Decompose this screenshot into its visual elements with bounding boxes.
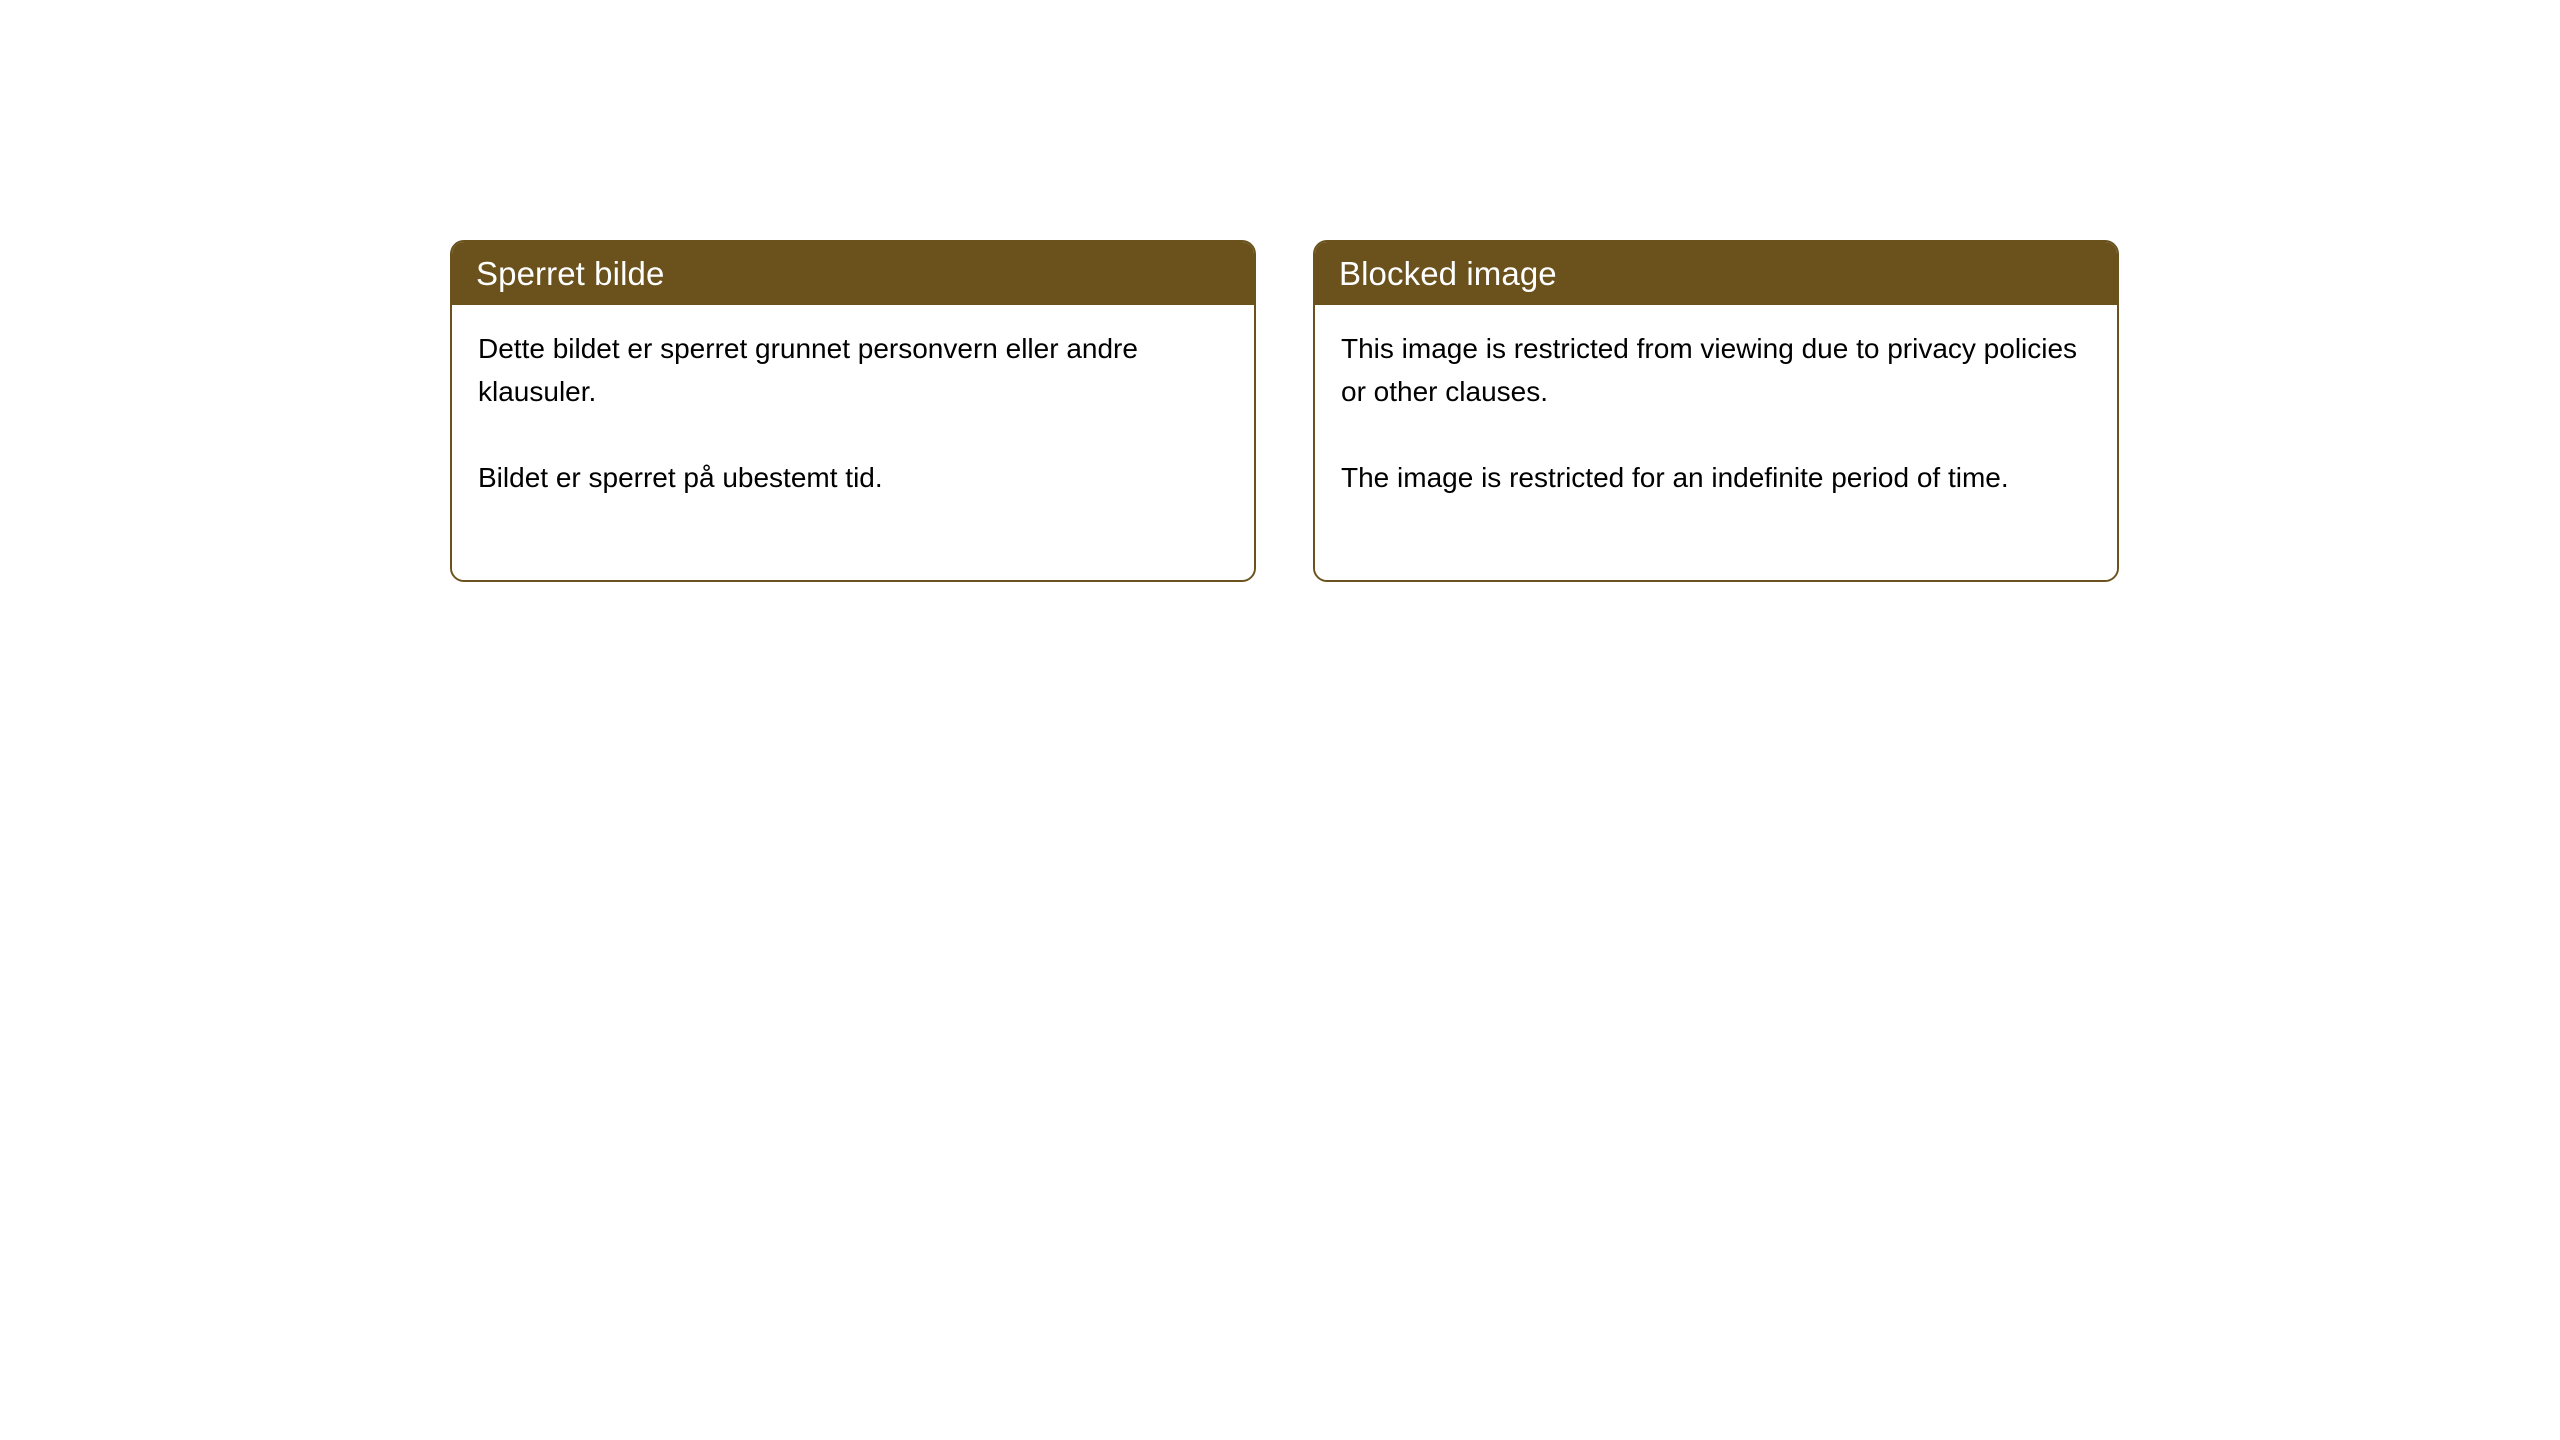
blocked-image-card-english: Blocked image This image is restricted f… (1313, 240, 2119, 582)
card-body-norwegian: Dette bildet er sperret grunnet personve… (452, 305, 1254, 580)
card-paragraph-norwegian-2: Bildet er sperret på ubestemt tid. (478, 456, 1218, 499)
card-paragraph-english-2: The image is restricted for an indefinit… (1341, 456, 2081, 499)
card-title-norwegian: Sperret bilde (476, 257, 664, 290)
card-body-english: This image is restricted from viewing du… (1315, 305, 2117, 580)
blocked-image-notices: Sperret bilde Dette bildet er sperret gr… (450, 240, 2119, 582)
blocked-image-card-norwegian: Sperret bilde Dette bildet er sperret gr… (450, 240, 1256, 582)
paragraph-spacer-norwegian (478, 413, 1228, 456)
card-header-norwegian: Sperret bilde (451, 241, 1255, 305)
card-paragraph-norwegian-1: Dette bildet er sperret grunnet personve… (478, 327, 1218, 413)
card-header-english: Blocked image (1314, 241, 2118, 305)
paragraph-spacer-english (1341, 413, 2091, 456)
card-paragraph-english-1: This image is restricted from viewing du… (1341, 327, 2081, 413)
card-title-english: Blocked image (1339, 257, 1557, 290)
